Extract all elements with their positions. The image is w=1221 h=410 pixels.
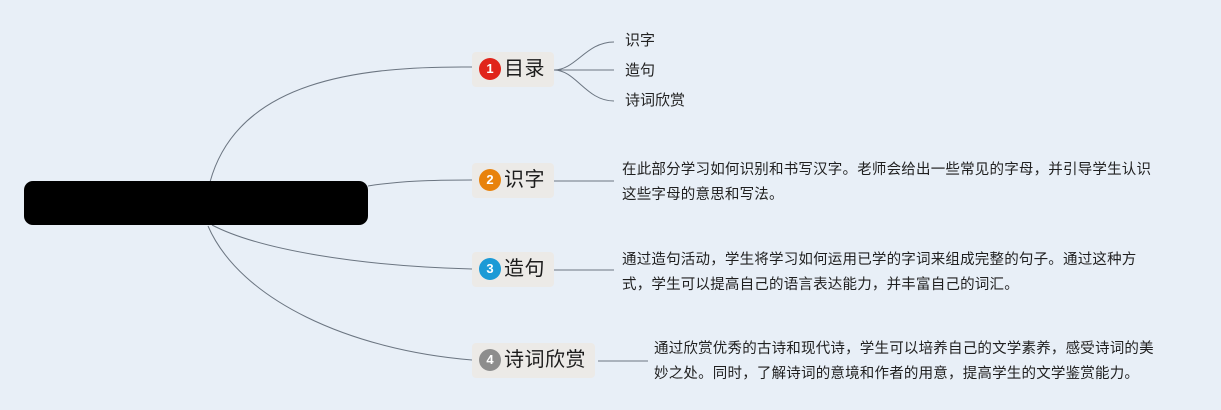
leaf-item-zaoju[interactable]: 造句 (625, 61, 655, 81)
connector-root-to-1 (210, 67, 472, 182)
branch-label-2: 识字 (504, 167, 545, 193)
connector-root-to-2 (368, 180, 472, 186)
mindmap-canvas: 1 目录 2 识字 3 造句 4 诗词欣赏 识字 造句 诗词欣赏 在此部分学习如… (0, 0, 1221, 410)
leaf-item-shizi[interactable]: 识字 (625, 31, 655, 51)
branch-description-4: 通过欣赏优秀的古诗和现代诗，学生可以培养自己的文学素养，感受诗词的美妙之处。同时… (654, 337, 1159, 387)
connector-1-to-leaf-0 (554, 42, 614, 70)
connector-root-to-4 (208, 226, 472, 360)
branch-node-4[interactable]: 4 诗词欣赏 (472, 343, 595, 378)
root-node-redacted[interactable] (24, 181, 368, 225)
connector-root-to-3 (212, 225, 472, 269)
branch-badge-3: 3 (479, 258, 501, 280)
branch-description-3: 通过造句活动，学生将学习如何运用已学的字词来组成完整的句子。通过这种方式，学生可… (622, 248, 1152, 298)
branch-description-2: 在此部分学习如何识别和书写汉字。老师会给出一些常见的字母，并引导学生认识这些字母… (622, 158, 1152, 208)
branch-node-2[interactable]: 2 识字 (472, 163, 554, 198)
connector-1-to-leaf-2 (554, 70, 614, 101)
branch-label-3: 造句 (504, 256, 545, 282)
branch-node-3[interactable]: 3 造句 (472, 252, 554, 287)
branch-label-1: 目录 (504, 56, 545, 82)
branch-label-4: 诗词欣赏 (504, 347, 586, 373)
branch-badge-1: 1 (479, 58, 501, 80)
leaf-item-shicixinshang[interactable]: 诗词欣赏 (625, 91, 685, 111)
branch-badge-4: 4 (479, 349, 501, 371)
branch-badge-2: 2 (479, 169, 501, 191)
branch-node-1[interactable]: 1 目录 (472, 52, 554, 87)
